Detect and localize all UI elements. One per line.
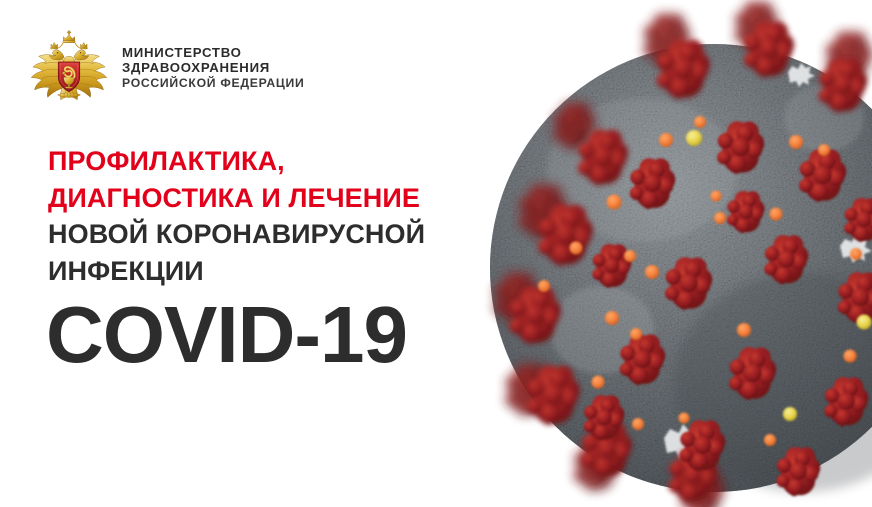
- ministry-header: МИНИСТЕРСТВО ЗДРАВООХРАНЕНИЯ РОССИЙСКОЙ …: [28, 26, 304, 108]
- document-title: ПРОФИЛАКТИКА, ДИАГНОСТИКА И ЛЕЧЕНИЕ НОВО…: [48, 143, 425, 289]
- russian-double-headed-eagle-emblem-icon: [28, 26, 110, 108]
- title-line-3: НОВОЙ КОРОНАВИРУСНОЙ: [48, 216, 425, 253]
- document-page: МИНИСТЕРСТВО ЗДРАВООХРАНЕНИЯ РОССИЙСКОЙ …: [0, 0, 872, 507]
- ministry-name-block: МИНИСТЕРСТВО ЗДРАВООХРАНЕНИЯ РОССИЙСКОЙ …: [122, 43, 304, 92]
- ministry-line-3: РОССИЙСКОЙ ФЕДЕРАЦИИ: [122, 76, 304, 92]
- title-line-4: ИНФЕКЦИИ: [48, 253, 425, 290]
- sars-cov-2-virus-particle-icon: [452, 0, 872, 507]
- title-line-1: ПРОФИЛАКТИКА,: [48, 143, 425, 180]
- title-line-2: ДИАГНОСТИКА И ЛЕЧЕНИЕ: [48, 180, 425, 217]
- ministry-line-1: МИНИСТЕРСТВО: [122, 45, 304, 61]
- ministry-line-2: ЗДРАВООХРАНЕНИЯ: [122, 60, 304, 76]
- covid-19-heading: COVID-19: [46, 293, 407, 377]
- virus-illustration: [452, 0, 872, 507]
